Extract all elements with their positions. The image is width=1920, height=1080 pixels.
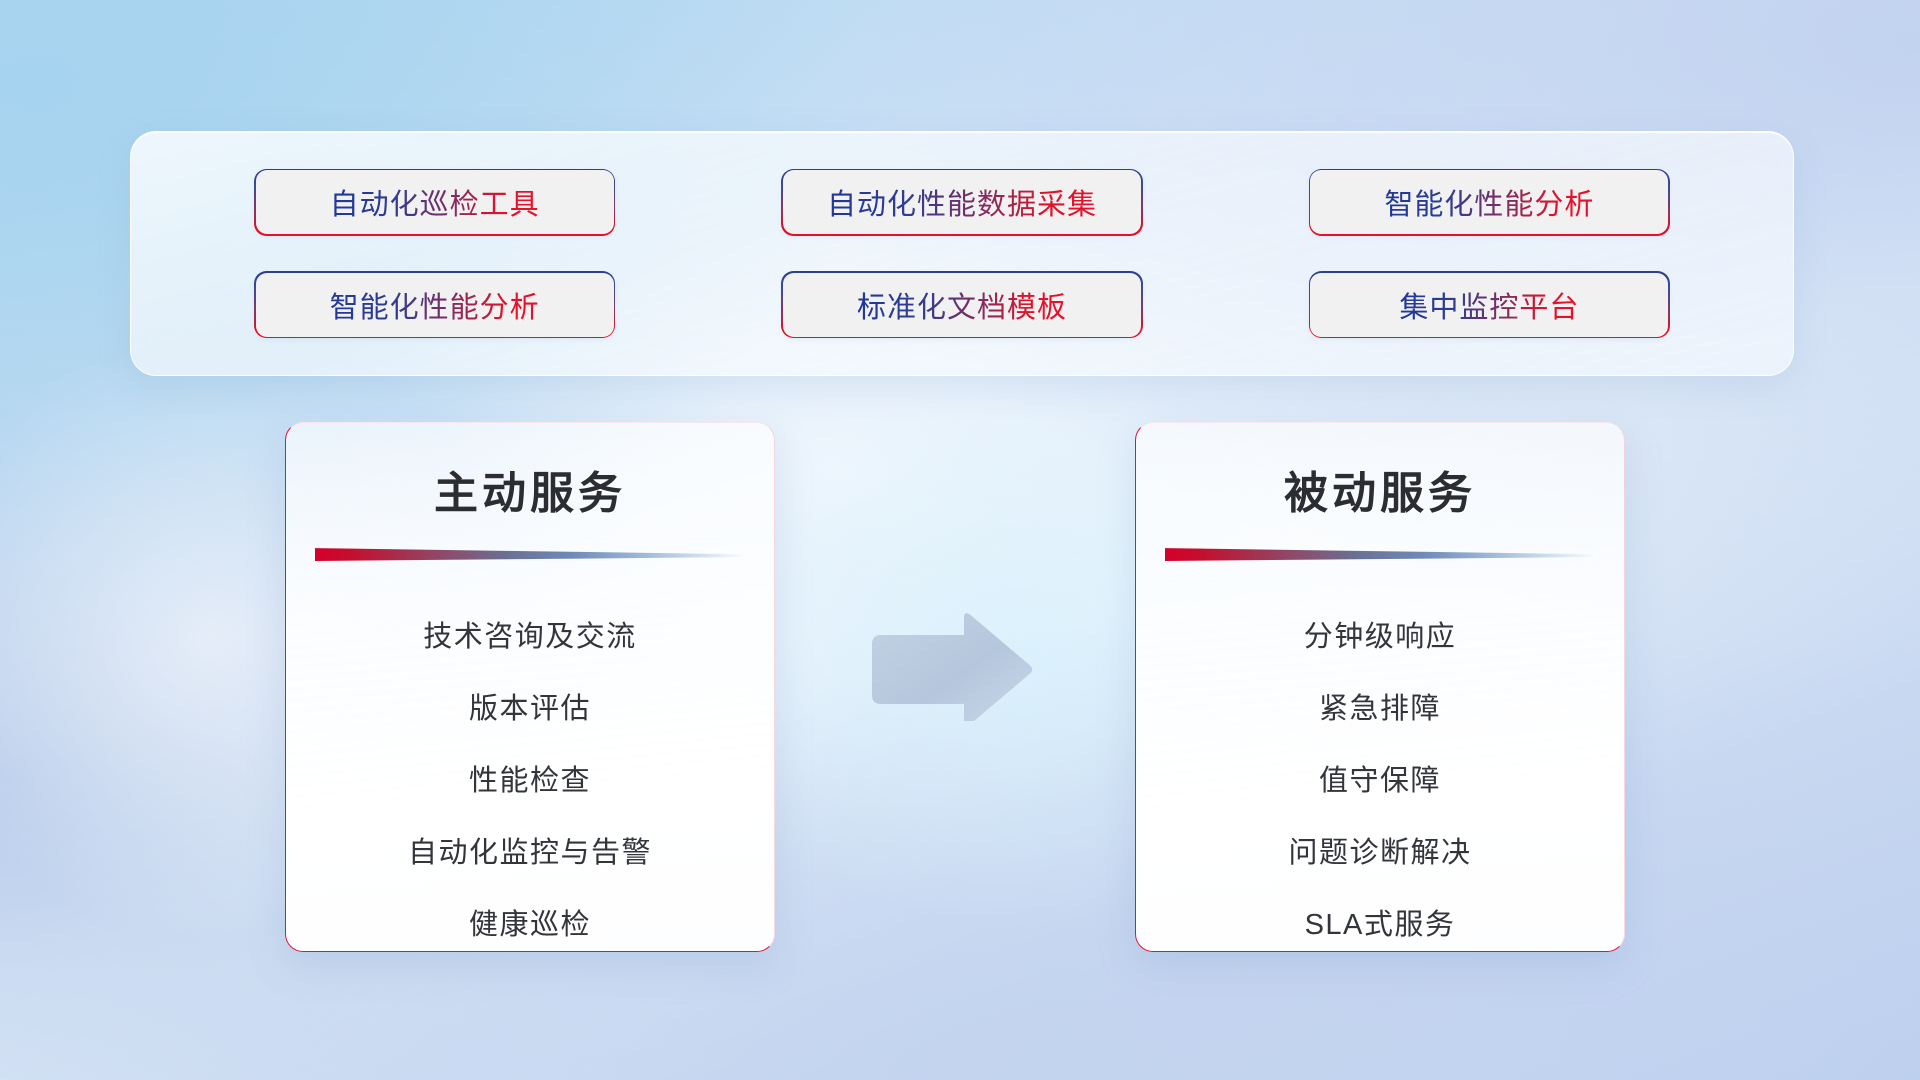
service-list-item: 健康巡检	[469, 889, 591, 952]
capability-pill-4[interactable]: 智能化性能分析	[256, 273, 614, 337]
capability-pill-label: 集中监控平台	[1399, 284, 1579, 326]
divider-wedge	[315, 547, 745, 561]
capability-pill-label: 自动化性能数据采集	[827, 181, 1097, 223]
service-list-item: 值守保障	[1319, 745, 1441, 817]
service-card-title: 主动服务	[286, 457, 774, 521]
arrow-shape	[872, 613, 1032, 721]
capability-pill-label: 智能化性能分析	[1384, 181, 1594, 223]
service-card-passive[interactable]: 被动服务 分钟级响应 紧急排障 值守保障 问题诊断解决 SLA式服务	[1135, 422, 1625, 952]
capability-panel: 自动化巡检工具 自动化性能数据采集 智能化性能分析 智能化性能分析 标准化文档模…	[130, 131, 1794, 376]
service-card-active[interactable]: 主动服务 技术咨询及交流 版本评估 性能检查 自动化监控与告警 健康巡检	[285, 422, 775, 952]
service-list-item: 技术咨询及交流	[423, 601, 637, 673]
service-list-item: 紧急排障	[1319, 673, 1441, 745]
title-divider	[315, 547, 745, 561]
capability-pill-label: 智能化性能分析	[330, 284, 540, 326]
capability-pill-2[interactable]: 自动化性能数据采集	[783, 170, 1141, 234]
capability-pill-6[interactable]: 集中监控平台	[1310, 273, 1668, 337]
service-list-item: 问题诊断解决	[1288, 817, 1471, 889]
service-list-item: 性能检查	[469, 745, 591, 817]
service-list-item: 自动化监控与告警	[408, 817, 652, 889]
service-list-item: 版本评估	[469, 673, 591, 745]
divider-wedge	[1165, 547, 1595, 561]
capability-pill-5[interactable]: 标准化文档模板	[783, 273, 1141, 337]
service-item-list: 技术咨询及交流 版本评估 性能检查 自动化监控与告警 健康巡检	[286, 601, 774, 952]
service-item-list: 分钟级响应 紧急排障 值守保障 问题诊断解决 SLA式服务	[1136, 601, 1624, 952]
capability-pill-label: 标准化文档模板	[857, 284, 1067, 326]
capability-pill-1[interactable]: 自动化巡检工具	[256, 170, 614, 234]
service-list-item: 分钟级响应	[1304, 601, 1457, 673]
title-divider	[1165, 547, 1595, 561]
service-list-item: SLA式服务	[1305, 889, 1456, 952]
service-card-title: 被动服务	[1136, 457, 1624, 521]
arrow-right-icon	[866, 611, 1036, 721]
capability-pill-3[interactable]: 智能化性能分析	[1310, 170, 1668, 234]
capability-pill-label: 自动化巡检工具	[330, 181, 540, 223]
